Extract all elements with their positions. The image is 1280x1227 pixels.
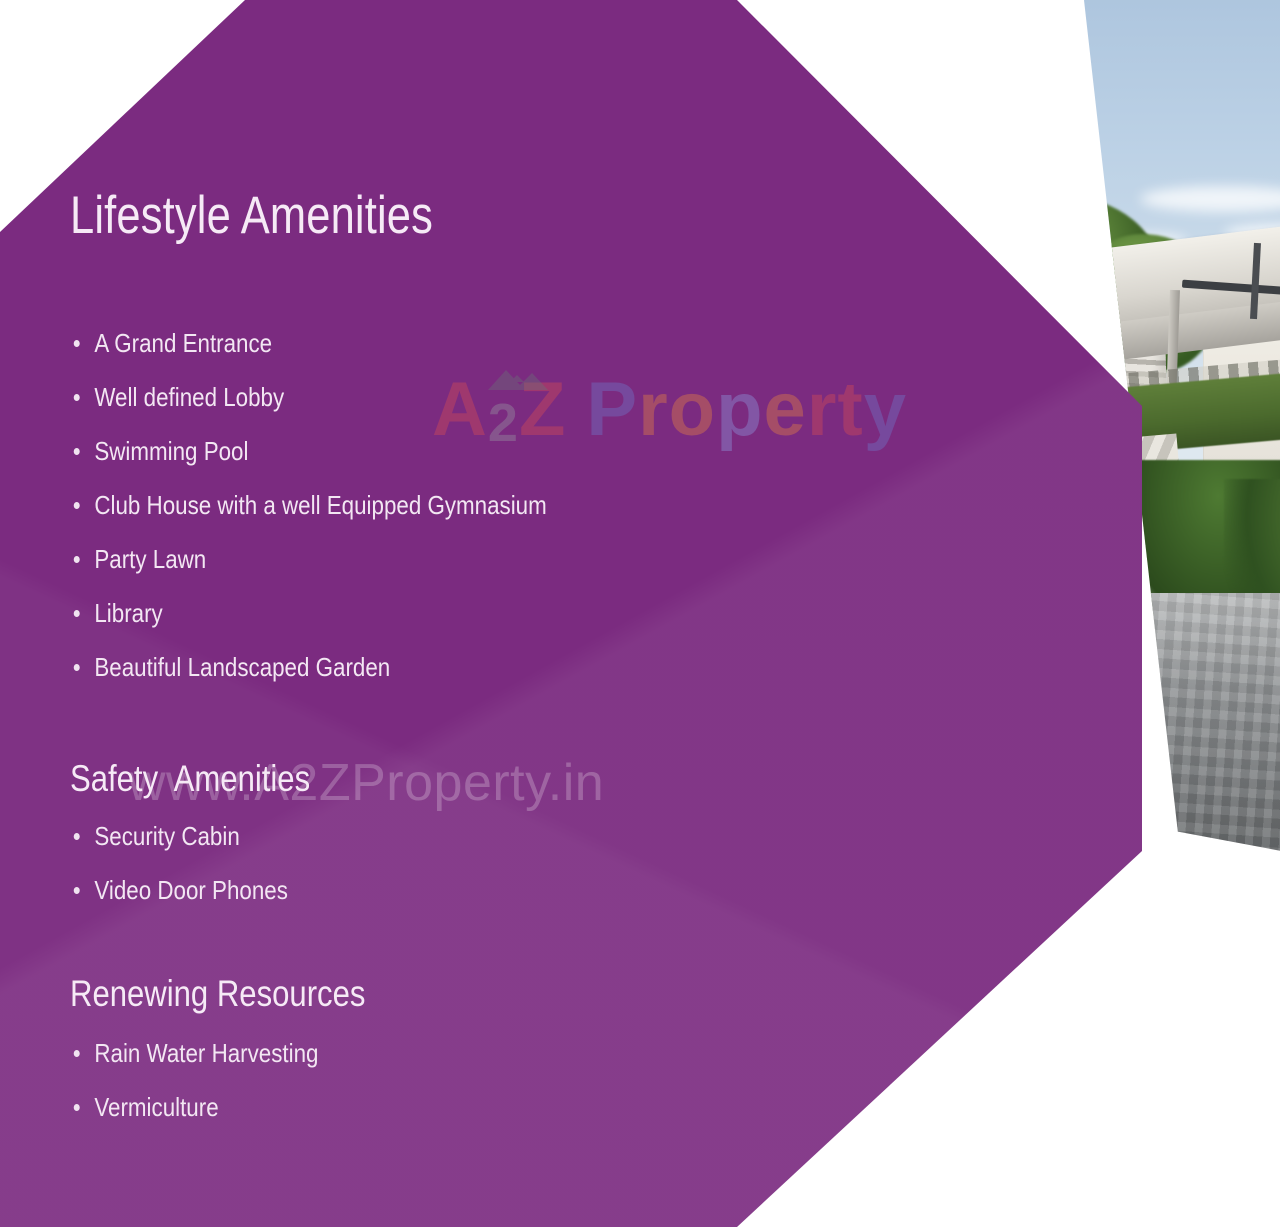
renewing-resources-heading: Renewing Resources [70,975,365,1012]
list-item: Well defined Lobby [72,384,547,410]
safety-amenities-heading: Safety Amenities [70,760,310,797]
lifestyle-amenities-list: A Grand Entrance Well defined Lobby Swim… [72,330,624,708]
renewing-resources-list: Rain Water Harvesting Vermiculture [72,1040,359,1148]
list-item: Club House with a well Equipped Gymnasiu… [72,492,547,518]
list-item: Rain Water Harvesting [72,1040,318,1066]
safety-amenities-list: Security Cabin Video Door Phones [72,823,323,931]
list-item: Swimming Pool [72,438,547,464]
list-item: Video Door Phones [72,877,288,903]
content-layer: Lifestyle Amenities A Grand Entrance Wel… [0,0,1142,1227]
list-item: Vermiculture [72,1094,318,1120]
list-item: A Grand Entrance [72,330,547,356]
slide-canvas: A2ZProperty www.A2ZProperty.in Lifestyle… [0,0,1280,1227]
page-title: Lifestyle Amenities [70,188,433,244]
list-item: Security Cabin [72,823,288,849]
list-item: Beautiful Landscaped Garden [72,654,547,680]
list-item: Library [72,600,547,626]
list-item: Party Lawn [72,546,547,572]
